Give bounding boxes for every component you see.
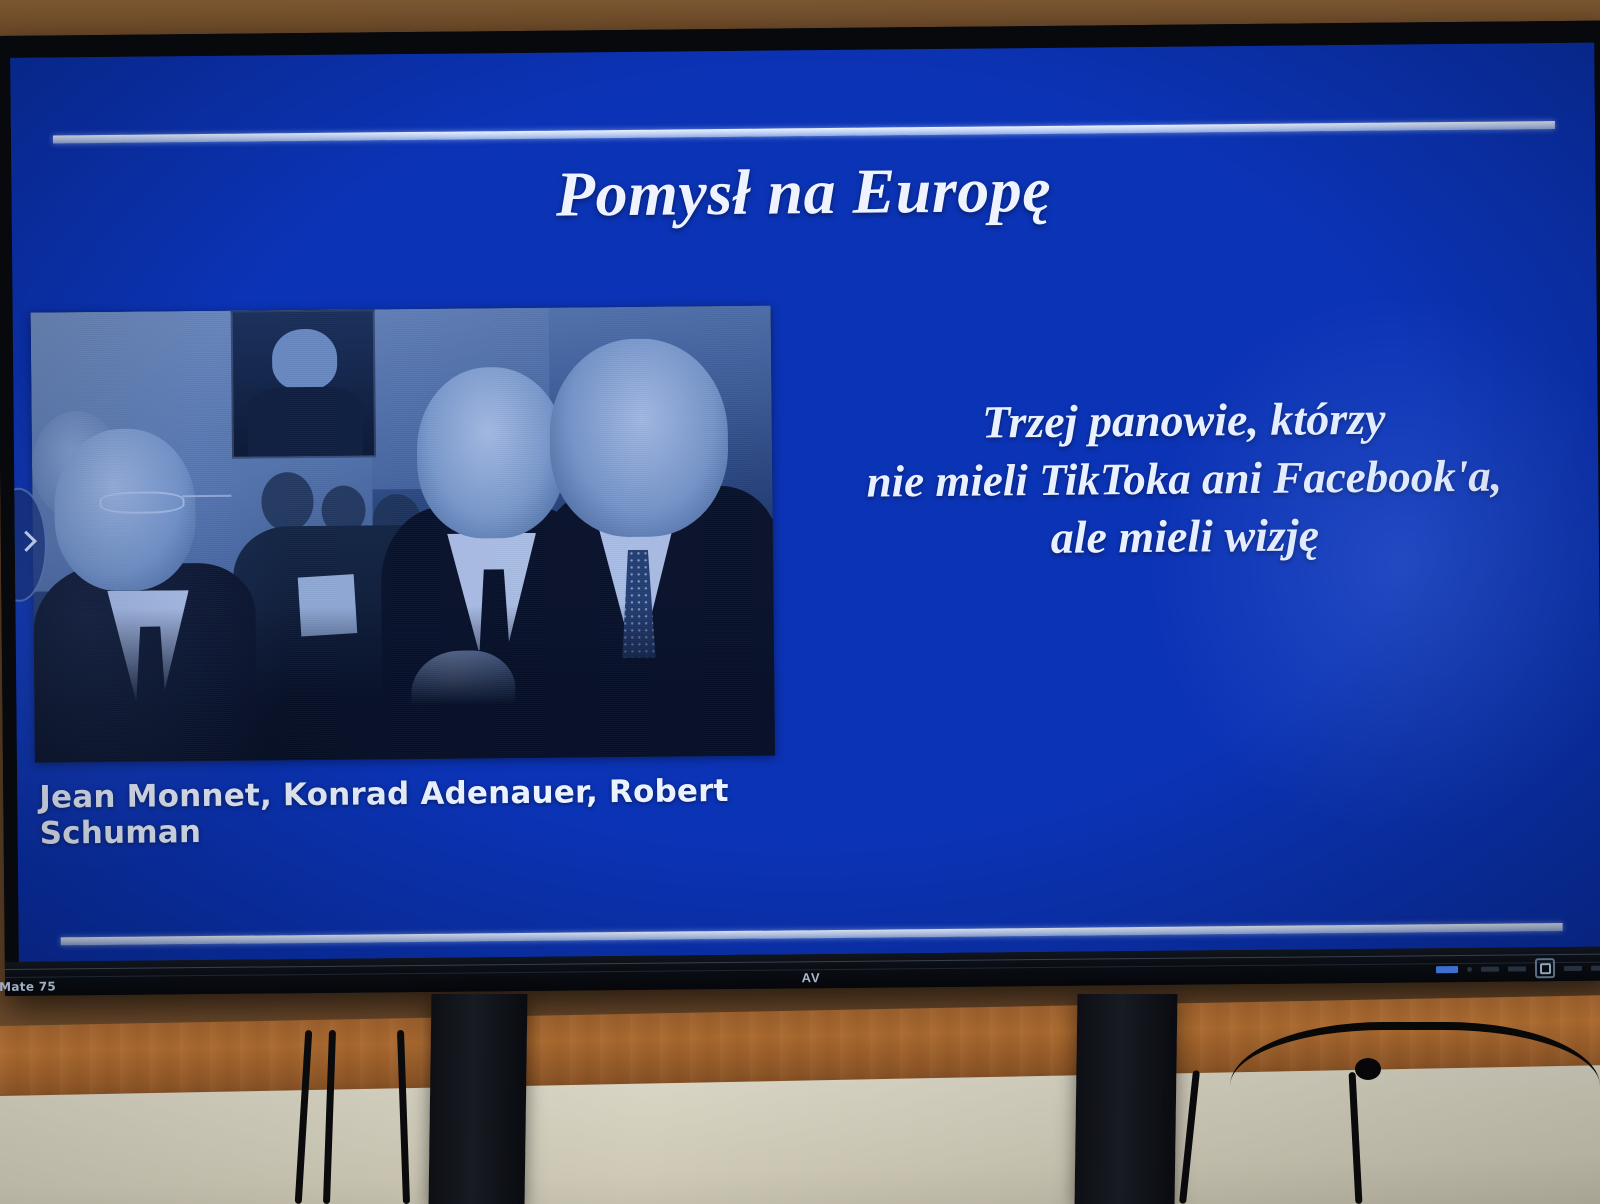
stand-leg-right — [1075, 994, 1178, 1204]
slide-quote: Trzej panowie, którzy nie mieli TikToka … — [773, 388, 1595, 571]
cable-knot — [1355, 1058, 1381, 1080]
usb-a-port[interactable] — [1481, 966, 1499, 971]
usb-c-port[interactable] — [1508, 966, 1526, 971]
photo-blue-tint — [31, 306, 775, 763]
screen-panel[interactable]: Pomysł na Europę — [10, 43, 1600, 962]
quote-line-2: nie mieli TikToka ani Facebook'a, — [774, 447, 1595, 512]
port-panel[interactable] — [1436, 958, 1600, 980]
photo-caption: Jean Monnet, Konrad Adenauer, Robert Sch… — [39, 772, 820, 851]
interactive-display[interactable]: Pomysł na Europę — [0, 21, 1600, 996]
cable-drape — [1230, 1022, 1600, 1150]
slide-rule-top — [53, 121, 1555, 143]
power-button[interactable] — [1535, 958, 1555, 978]
model-label: Mate 75 — [0, 979, 56, 994]
audio-port[interactable] — [1591, 965, 1600, 970]
hdmi-port[interactable] — [1564, 965, 1582, 970]
page-title: Pomysł na Europę — [11, 148, 1596, 237]
usb-port[interactable] — [1436, 966, 1458, 973]
room-scene: Pomysł na Europę — [0, 0, 1600, 1204]
stand-leg-left — [429, 994, 528, 1204]
indicator-dot — [1467, 966, 1472, 971]
quote-line-3: ale mieli wizję — [775, 504, 1596, 571]
quote-line-1: Trzej panowie, którzy — [773, 388, 1594, 455]
brand-logo: AV — [801, 970, 820, 985]
slide-photo — [31, 306, 775, 763]
slide-rule-bottom — [61, 923, 1563, 945]
